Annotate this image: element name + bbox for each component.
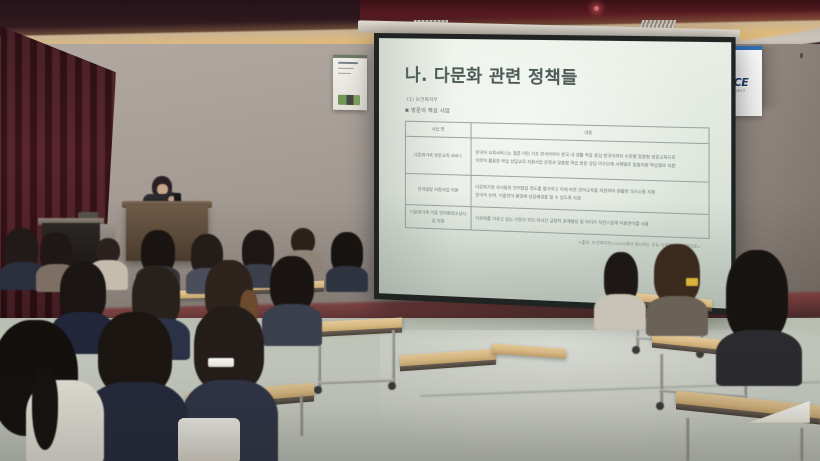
desk-leg xyxy=(392,330,395,384)
table-cell-label: 언어발달 지원사업 지원 xyxy=(405,173,470,206)
poster-logo-icon xyxy=(338,95,360,105)
slide-bullet-text: 방문의 핵심 사업 xyxy=(411,108,450,115)
desk-caster xyxy=(656,402,664,410)
torso xyxy=(594,294,646,330)
hair xyxy=(726,250,788,342)
student-front-row-1 xyxy=(0,320,104,461)
wall-poster-left xyxy=(333,55,367,111)
student-mid-row-6 xyxy=(646,244,708,330)
bullet-marker-icon: ▪ xyxy=(405,107,409,114)
slide-title: 나. 다문화 관련 정책들 xyxy=(405,60,710,91)
table-cell-label: 다문화가족 방문교육 서비스 xyxy=(405,136,470,175)
poster-text-line xyxy=(338,67,354,68)
desk-caster xyxy=(388,382,396,390)
ceiling-indicator-light xyxy=(594,6,599,11)
desk-caster xyxy=(632,346,640,354)
desk-leg xyxy=(686,418,689,461)
wall-mount-knob xyxy=(800,53,803,58)
desk-caster xyxy=(314,386,322,394)
student-mid-row-7 xyxy=(716,250,802,380)
student-back-row-8 xyxy=(326,232,368,290)
poster-text-line xyxy=(338,72,351,73)
hair-clip xyxy=(686,278,698,286)
hair-strand xyxy=(32,368,58,450)
hair xyxy=(654,244,700,304)
table-header-label: 사업 명 xyxy=(405,121,470,138)
student-mid-row-5 xyxy=(594,252,646,326)
torso xyxy=(646,296,708,336)
slide-table: 사업 명 내용 다문화가족 방문교육 서비스 한국어 교육서비스는 결혼 이민 … xyxy=(405,121,710,239)
slide-table-body: 다문화가족 방문교육 서비스 한국어 교육서비스는 결혼 이민 기초 한국어부터… xyxy=(405,136,709,238)
poster-title-line xyxy=(338,62,358,64)
lecture-hall-photo: ACE PROJECT 나. 다문화 관련 정책들 (1) 보건복지부 ▪ 방문… xyxy=(0,0,820,461)
pencil-case xyxy=(208,358,234,367)
torso xyxy=(716,330,802,386)
desk-leg xyxy=(800,428,803,461)
desk-leg xyxy=(300,396,303,436)
slide-bullet-line: ▪ 방문의 핵심 사업 xyxy=(405,107,710,121)
white-tote-bag xyxy=(178,418,240,461)
table-cell-label: 다문화가족 이중 언어환경조성사업 지원 xyxy=(405,205,470,230)
desk-leg xyxy=(660,354,663,406)
torso xyxy=(326,266,368,292)
table-cell-line: 다문화를 이루고 있는 가정의 부모-자녀간 긍정적 관계형성 및 아이가 자연… xyxy=(475,214,704,230)
